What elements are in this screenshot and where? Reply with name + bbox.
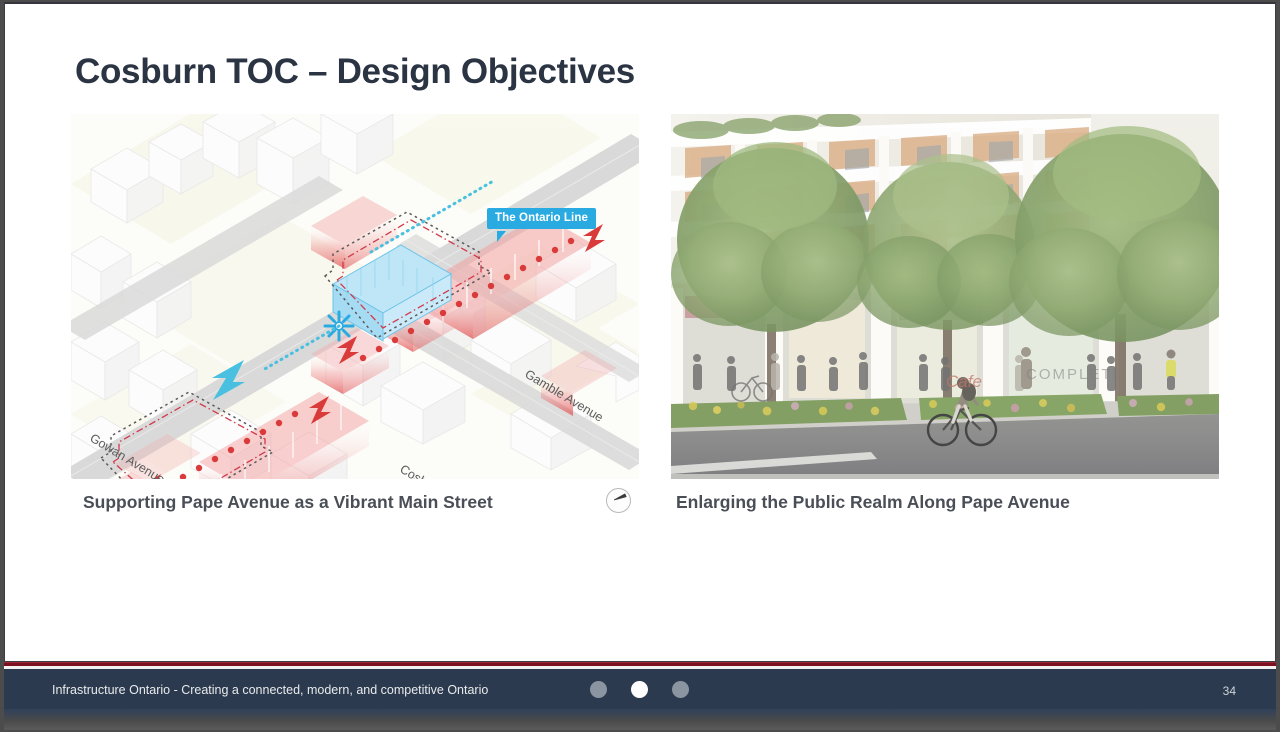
ontario-line-callout: The Ontario Line (487, 208, 596, 229)
axonometric-map-image: The Ontario Line Gamble Avenue Cosburn A… (71, 114, 639, 479)
streetscape-rendering-panel[interactable]: Cafe COMPLETE (671, 114, 1219, 479)
ontario-line-callout-tail (497, 231, 506, 242)
cursor-ring (606, 488, 631, 513)
scroll-track[interactable] (4, 709, 1276, 730)
complete-sign: COMPLETE (1026, 366, 1125, 383)
progress-dot-1[interactable] (590, 681, 607, 698)
footer-tagline: Infrastructure Ontario - Creating a conn… (52, 683, 488, 697)
slide-canvas[interactable]: Cosburn TOC – Design Objectives (4, 2, 1276, 662)
progress-dot-3[interactable] (672, 681, 689, 698)
progress-dot-2[interactable] (631, 681, 648, 698)
caption-left: Supporting Pape Avenue as a Vibrant Main… (83, 492, 493, 513)
axonometric-map-panel[interactable]: The Ontario Line Gamble Avenue Cosburn A… (71, 114, 639, 479)
axonometric-map-svg (71, 114, 639, 479)
slide-viewer: Cosburn TOC – Design Objectives (0, 0, 1280, 732)
caption-right: Enlarging the Public Realm Along Pape Av… (676, 492, 1070, 513)
busy-wait-cursor (606, 488, 631, 513)
slide-progress-dots[interactable] (590, 681, 689, 698)
page-title: Cosburn TOC – Design Objectives (75, 52, 635, 92)
cafe-sign: Cafe (946, 372, 982, 392)
streetscape-rendering-svg (671, 114, 1219, 479)
page-number: 34 (1223, 684, 1236, 698)
streetscape-rendering-image: Cafe COMPLETE (671, 114, 1219, 479)
